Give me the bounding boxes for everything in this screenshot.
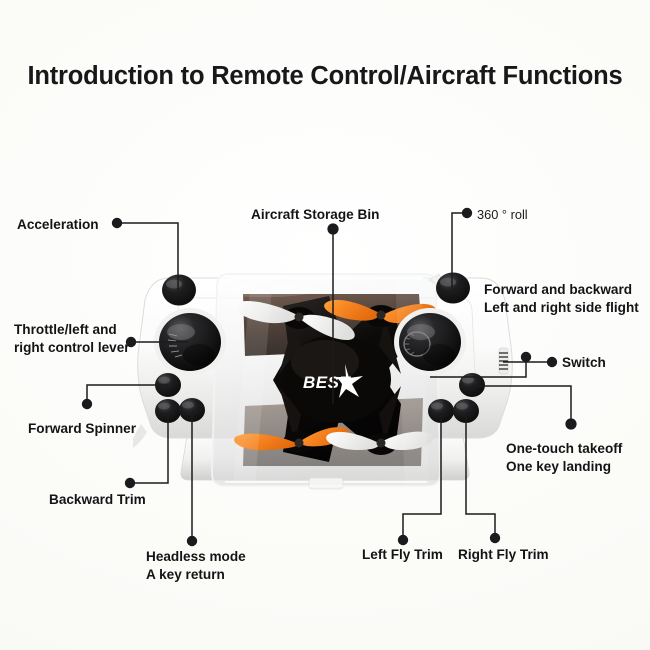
callout-label-acceleration: Acceleration	[17, 216, 99, 234]
callout-label-switch: Switch	[562, 354, 606, 372]
leader-dot-right-fly-trim	[490, 533, 500, 543]
leader-dot-forward-spinner	[82, 399, 92, 409]
leader-dot-switch	[547, 357, 557, 367]
callout-label-headless-mode: Headless mode A key return	[146, 548, 246, 584]
callout-label-throttle: Throttle/left and right control lever	[14, 321, 130, 357]
leader-dot-directional-flight	[521, 352, 531, 362]
leader-dot-storage-bin	[327, 223, 338, 234]
leader-dot-backward-trim	[125, 478, 135, 488]
callout-label-backward-trim: Backward Trim	[49, 491, 146, 509]
leader-dot-headless-mode	[187, 536, 197, 546]
callout-label-right-fly-trim: Right Fly Trim	[458, 546, 549, 564]
leader-dot-left-fly-trim	[398, 535, 408, 545]
callout-label-roll-360: 360 ° roll	[477, 206, 528, 223]
callout-label-directional-flight: Forward and backward Left and right side…	[484, 281, 639, 317]
product-diagram-canvas: Introduction to Remote Control/Aircraft …	[0, 0, 650, 650]
callout-label-left-fly-trim: Left Fly Trim	[362, 546, 443, 564]
leader-dot-one-touch-takeoff	[565, 418, 576, 429]
callout-label-aircraft-storage-bin: Aircraft Storage Bin	[251, 206, 379, 224]
callout-label-one-touch-takeoff: One-touch takeoff One key landing	[506, 440, 622, 476]
callout-label-forward-spinner: Forward Spinner	[28, 420, 136, 438]
leader-dot-roll-360	[462, 208, 472, 218]
leader-dot-acceleration	[112, 218, 122, 228]
